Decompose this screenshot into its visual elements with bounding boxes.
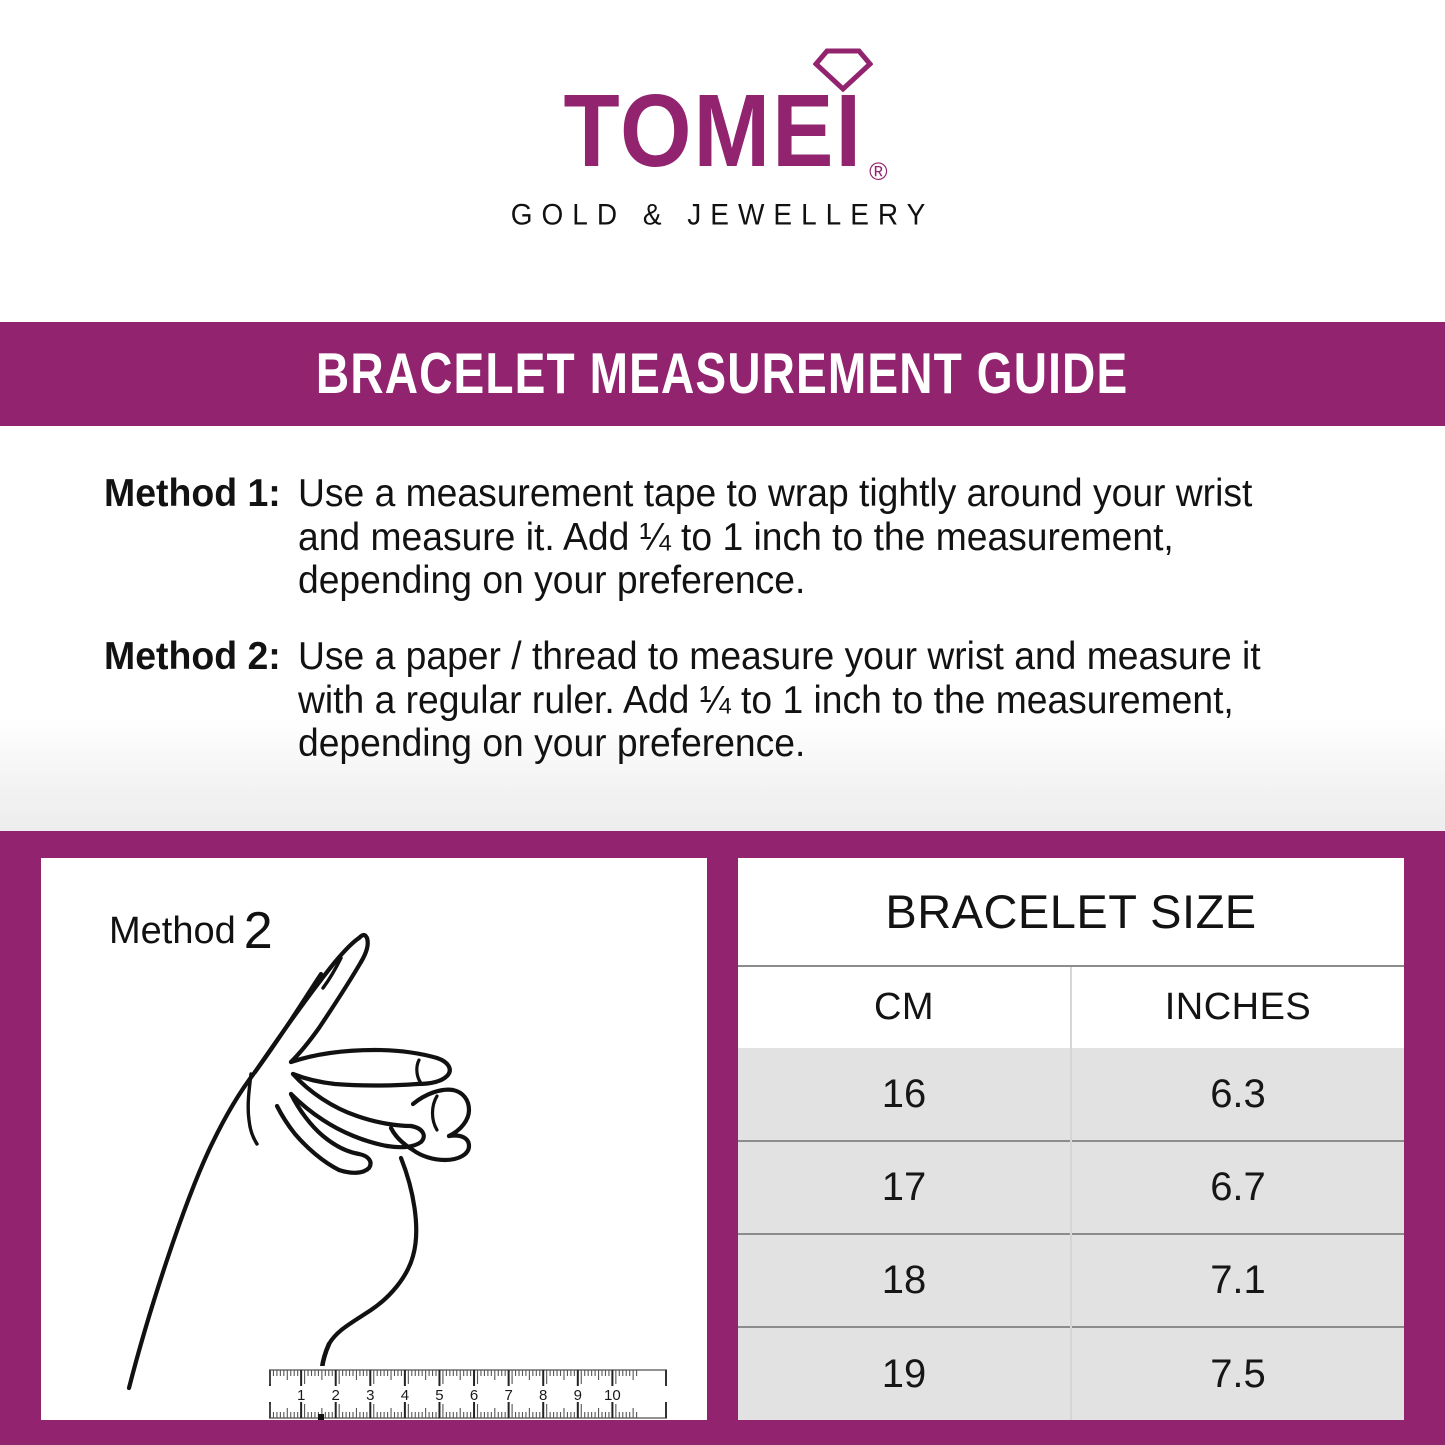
brand-logo-section: TOMEI® GOLD & JEWELLERY — [0, 0, 1445, 322]
ruler-tick-label: 9 — [574, 1387, 582, 1404]
table-row: 19 7.5 — [738, 1327, 1404, 1420]
bracelet-measurement-guide-page: TOMEI® GOLD & JEWELLERY BRACELET MEASURE… — [0, 0, 1445, 1445]
logo-wordmark: TOMEI — [563, 80, 863, 183]
ruler-tick-label: 6 — [470, 1387, 478, 1404]
table-row: 18 7.1 — [738, 1234, 1404, 1327]
logo-mark: TOMEI® — [563, 91, 881, 183]
logo-tagline: GOLD & JEWELLERY — [483, 198, 963, 232]
ruler-tick-label: 8 — [539, 1387, 547, 1404]
page-header-banner: BRACELET MEASUREMENT GUIDE — [0, 322, 1445, 426]
ruler-tick-label: 1 — [297, 1387, 305, 1404]
cell-inches: 7.1 — [1071, 1234, 1404, 1327]
column-header-cm: CM — [738, 966, 1071, 1048]
table-header-row: CM INCHES — [738, 966, 1404, 1048]
method-1-text: Use a measurement tape to wrap tightly a… — [298, 472, 1311, 603]
cell-inches: 6.3 — [1071, 1048, 1404, 1141]
method-1-label: Method 1: — [104, 472, 290, 516]
cell-cm: 17 — [738, 1141, 1071, 1234]
cell-cm: 18 — [738, 1234, 1071, 1327]
registered-mark-icon: ® — [869, 158, 887, 186]
ruler-tick-label: 2 — [332, 1387, 340, 1404]
method-2-text: Use a paper / thread to measure your wri… — [298, 635, 1311, 766]
cell-inches: 6.7 — [1071, 1141, 1404, 1234]
method-1-row: Method 1: Use a measurement tape to wrap… — [104, 472, 1359, 603]
ruler-tick-label: 5 — [435, 1387, 443, 1404]
cell-inches: 7.5 — [1071, 1327, 1404, 1420]
bracelet-size-table: BRACELET SIZE CM INCHES 16 6.3 17 6.7 — [738, 858, 1404, 1420]
bracelet-size-table-panel: BRACELET SIZE CM INCHES 16 6.3 17 6.7 — [738, 858, 1404, 1420]
ruler-tick-label: 3 — [366, 1387, 374, 1404]
method-2-label: Method 2: — [104, 635, 290, 679]
page-title: BRACELET MEASUREMENT GUIDE — [316, 341, 1128, 407]
ruler-tick-label: 10 — [604, 1387, 621, 1404]
ruler-tick-label: 4 — [401, 1387, 409, 1404]
ruler-icon: 12345678910 — [41, 858, 707, 1420]
column-header-inches: INCHES — [1071, 966, 1404, 1048]
ruler-tick-label: 7 — [504, 1387, 512, 1404]
bottom-magenta-section: Method2 — [0, 831, 1445, 1445]
cell-cm: 19 — [738, 1327, 1071, 1420]
method-2-row: Method 2: Use a paper / thread to measur… — [104, 635, 1359, 766]
table-row: 16 6.3 — [738, 1048, 1404, 1141]
table-row: 17 6.7 — [738, 1141, 1404, 1234]
table-title-row: BRACELET SIZE — [738, 858, 1404, 966]
table-title: BRACELET SIZE — [738, 858, 1404, 966]
method-2-illustration-panel: Method2 — [41, 858, 707, 1420]
cell-cm: 16 — [738, 1048, 1071, 1141]
methods-section: Method 1: Use a measurement tape to wrap… — [0, 426, 1445, 831]
logo-wrap: TOMEI® GOLD & JEWELLERY — [483, 91, 963, 231]
